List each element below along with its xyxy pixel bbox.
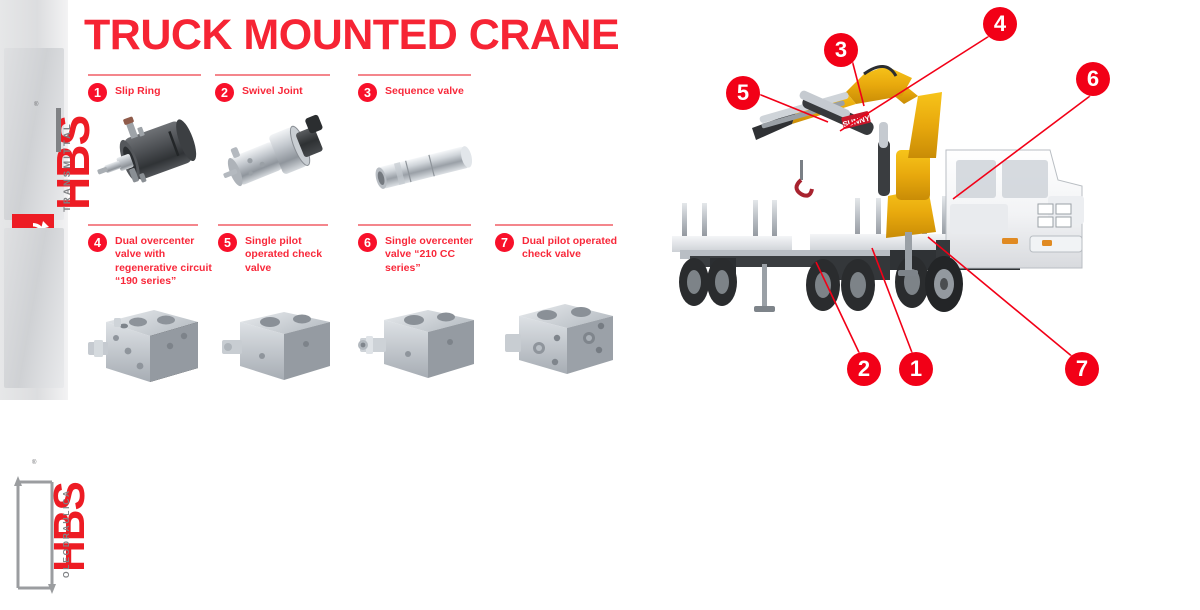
product-caption: 5 Single pilot operated check valve: [218, 233, 343, 275]
product-label: Dual overcenter valve with regenerative …: [115, 233, 213, 289]
callout-6[interactable]: 6: [1076, 62, 1110, 96]
product-caption: 7 Dual pilot operated check valve: [495, 233, 630, 262]
card-rule: [358, 224, 471, 226]
card-rule: [358, 74, 471, 76]
truck-mounted-crane-photo: SUNNY 5 3 4 6 2 1 7: [650, 0, 1200, 400]
registered-mark-bottom: ®: [32, 460, 36, 466]
logo-transmittal: ® HBS TRANSMITTAL: [4, 48, 64, 220]
product-number-badge: 4: [88, 233, 107, 252]
product-card-2[interactable]: 2 Swivel Joint: [215, 74, 340, 219]
product-label: Dual pilot operated check valve: [522, 233, 630, 262]
callout-1[interactable]: 1: [899, 352, 933, 386]
product-card-4[interactable]: 4 Dual overcenter valve with regenerativ…: [88, 224, 213, 399]
product-number-badge: 1: [88, 83, 107, 102]
callout-7[interactable]: 7: [1065, 352, 1099, 386]
card-rule: [495, 224, 613, 226]
product-card-5[interactable]: 5 Single pilot operated check valve: [218, 224, 343, 399]
product-caption: 4 Dual overcenter valve with regenerativ…: [88, 233, 213, 289]
product-label: Single pilot operated check valve: [245, 233, 343, 275]
product-caption: 1 Slip Ring: [88, 83, 161, 102]
callout-3[interactable]: 3: [824, 33, 858, 67]
dual-overcenter-valve-photo: [88, 296, 212, 396]
dual-pilot-check-valve-photo: [495, 286, 627, 391]
swivel-joint-photo: [217, 110, 339, 200]
callout-5[interactable]: 5: [726, 76, 760, 110]
callout-2[interactable]: 2: [847, 352, 881, 386]
brand-rail: ® HBS TRANSMITTAL ® HBS: [0, 0, 68, 400]
card-rule: [215, 74, 330, 76]
single-pilot-check-valve-photo: [218, 296, 342, 396]
product-card-7[interactable]: 7 Dual pilot operated check valve: [495, 224, 630, 399]
product-number-badge: 5: [218, 233, 237, 252]
poster-root: ® HBS TRANSMITTAL ® HBS: [0, 0, 1200, 400]
sequence-valve-photo: [362, 136, 490, 200]
card-rule: [88, 74, 201, 76]
registered-mark-top: ®: [34, 102, 38, 108]
product-label: Swivel Joint: [242, 83, 303, 98]
logo-oleodraulica: ® HBS OLEODRAULICA: [4, 228, 64, 388]
product-label: Slip Ring: [115, 83, 161, 98]
crane-truck-illustration: SUNNY: [650, 0, 1200, 400]
callout-4[interactable]: 4: [983, 7, 1017, 41]
transmittal-tagline: TRANSMITTAL: [62, 122, 73, 212]
page-title: TRUCK MOUNTED CRANE: [84, 14, 619, 57]
single-overcenter-valve-photo: [358, 296, 488, 396]
slip-ring-photo: [90, 110, 208, 200]
product-number-badge: 7: [495, 233, 514, 252]
product-label: Sequence valve: [385, 83, 464, 98]
product-number-badge: 3: [358, 83, 377, 102]
logo-divider-bar: [56, 108, 61, 152]
product-number-badge: 2: [215, 83, 234, 102]
product-label: Single overcenter valve “210 CC series”: [385, 233, 488, 275]
product-caption: 2 Swivel Joint: [215, 83, 303, 102]
card-rule: [88, 224, 198, 226]
oleodraulica-tagline: OLEODRAULICA: [61, 489, 71, 578]
product-caption: 6 Single overcenter valve “210 CC series…: [358, 233, 488, 275]
product-number-badge: 6: [358, 233, 377, 252]
product-card-1[interactable]: 1 Slip Ring: [88, 74, 208, 219]
card-rule: [218, 224, 328, 226]
product-card-3[interactable]: 3 Sequence valve: [358, 74, 488, 219]
product-card-6[interactable]: 6 Single overcenter valve “210 CC series…: [358, 224, 488, 399]
product-caption: 3 Sequence valve: [358, 83, 464, 102]
